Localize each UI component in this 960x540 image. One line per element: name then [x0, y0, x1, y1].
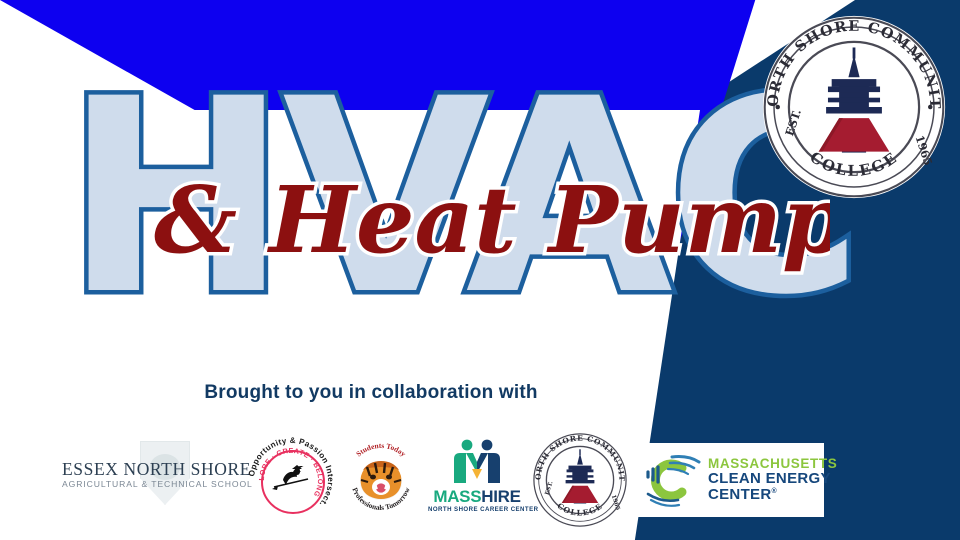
registered-mark: ®	[771, 488, 776, 495]
logo-masshire: MASSHIRE NORTH SHORE CAREER CENTER	[428, 437, 526, 523]
heat-pump-script: & Heat Pump	[150, 160, 830, 280]
logo-north-shore-community-college: NORTH SHORE COMMUNITY COLLEGE EST. 1965	[532, 432, 628, 528]
logo-mass-clean-energy-center: MASSACHUSETTS CLEAN ENERGY CENTER®	[634, 443, 824, 517]
masshire-word-hire: HIRE	[481, 487, 520, 506]
masscec-line1: MASSACHUSETTS	[708, 457, 837, 471]
partner-logo-strip: ESSEX NORTH SHORE AGRICULTURAL & TECHNIC…	[62, 424, 852, 536]
masshire-word-mass: MASS	[433, 487, 481, 506]
essex-subtitle: AGRICULTURAL & TECHNICAL SCHOOL	[62, 479, 242, 489]
masscec-wordmark: MASSACHUSETTS CLEAN ENERGY CENTER®	[708, 457, 837, 502]
promo-slide: HVAC & Heat Pump NORTH SHORE CO	[0, 0, 960, 540]
heat-pump-script-text: & Heat Pump	[154, 166, 830, 274]
clean-energy-c-icon	[642, 452, 704, 508]
logo-salem-public-schools: Where Opportunity & Passion Intersect. E…	[248, 437, 334, 523]
masshire-subtitle: NORTH SHORE CAREER CENTER	[428, 506, 526, 513]
masshire-people-icon	[450, 439, 504, 483]
logo-salem-high-school: Students Today Professionals Tomorrow	[340, 439, 422, 521]
collaboration-caption: Brought to you in collaboration with	[0, 382, 742, 404]
logo-essex-north-shore: ESSEX NORTH SHORE AGRICULTURAL & TECHNIC…	[62, 437, 242, 523]
nscc-seal-large: NORTH SHORE COMMUNITY COLLEGE EST. 1965	[761, 14, 947, 200]
essex-name: ESSEX NORTH SHORE	[62, 459, 242, 480]
masscec-line3-text: CENTER	[708, 486, 771, 503]
tiger-icon	[340, 439, 422, 521]
masshire-wordmark: MASSHIRE	[428, 487, 526, 507]
masscec-line3: CENTER®	[708, 487, 837, 503]
witch-on-broom-icon	[272, 465, 310, 495]
masscec-line2: CLEAN ENERGY	[708, 471, 837, 487]
